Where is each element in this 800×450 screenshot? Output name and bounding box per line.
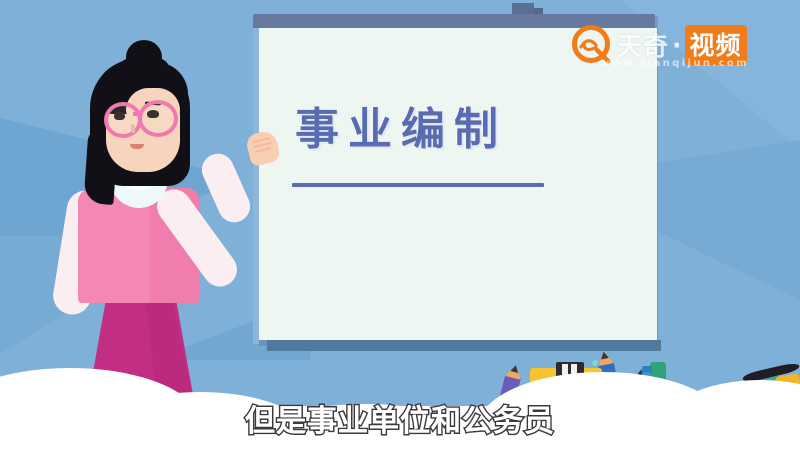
subtitle-text: 但是事业单位和公务员 xyxy=(0,396,800,440)
board-title-underline xyxy=(292,183,544,187)
glasses-lens-right-icon xyxy=(138,100,178,137)
watermark-url: www.tianqijun.com xyxy=(600,58,749,69)
whiteboard-tray xyxy=(267,340,661,351)
character-right-forearm xyxy=(197,149,256,228)
teacher-character xyxy=(52,40,267,420)
board-title: 事业编制 xyxy=(295,108,625,152)
watermark-separator: · xyxy=(672,31,683,60)
deco-dot-3 xyxy=(592,360,598,366)
character-nose xyxy=(131,124,135,133)
video-frame: 事业编制 天奇 · 视频 www.tianqijun.com xyxy=(0,0,800,450)
character-hair-bun xyxy=(126,40,162,74)
glasses-lens-left-icon xyxy=(104,102,142,138)
glasses-bridge xyxy=(133,112,141,116)
